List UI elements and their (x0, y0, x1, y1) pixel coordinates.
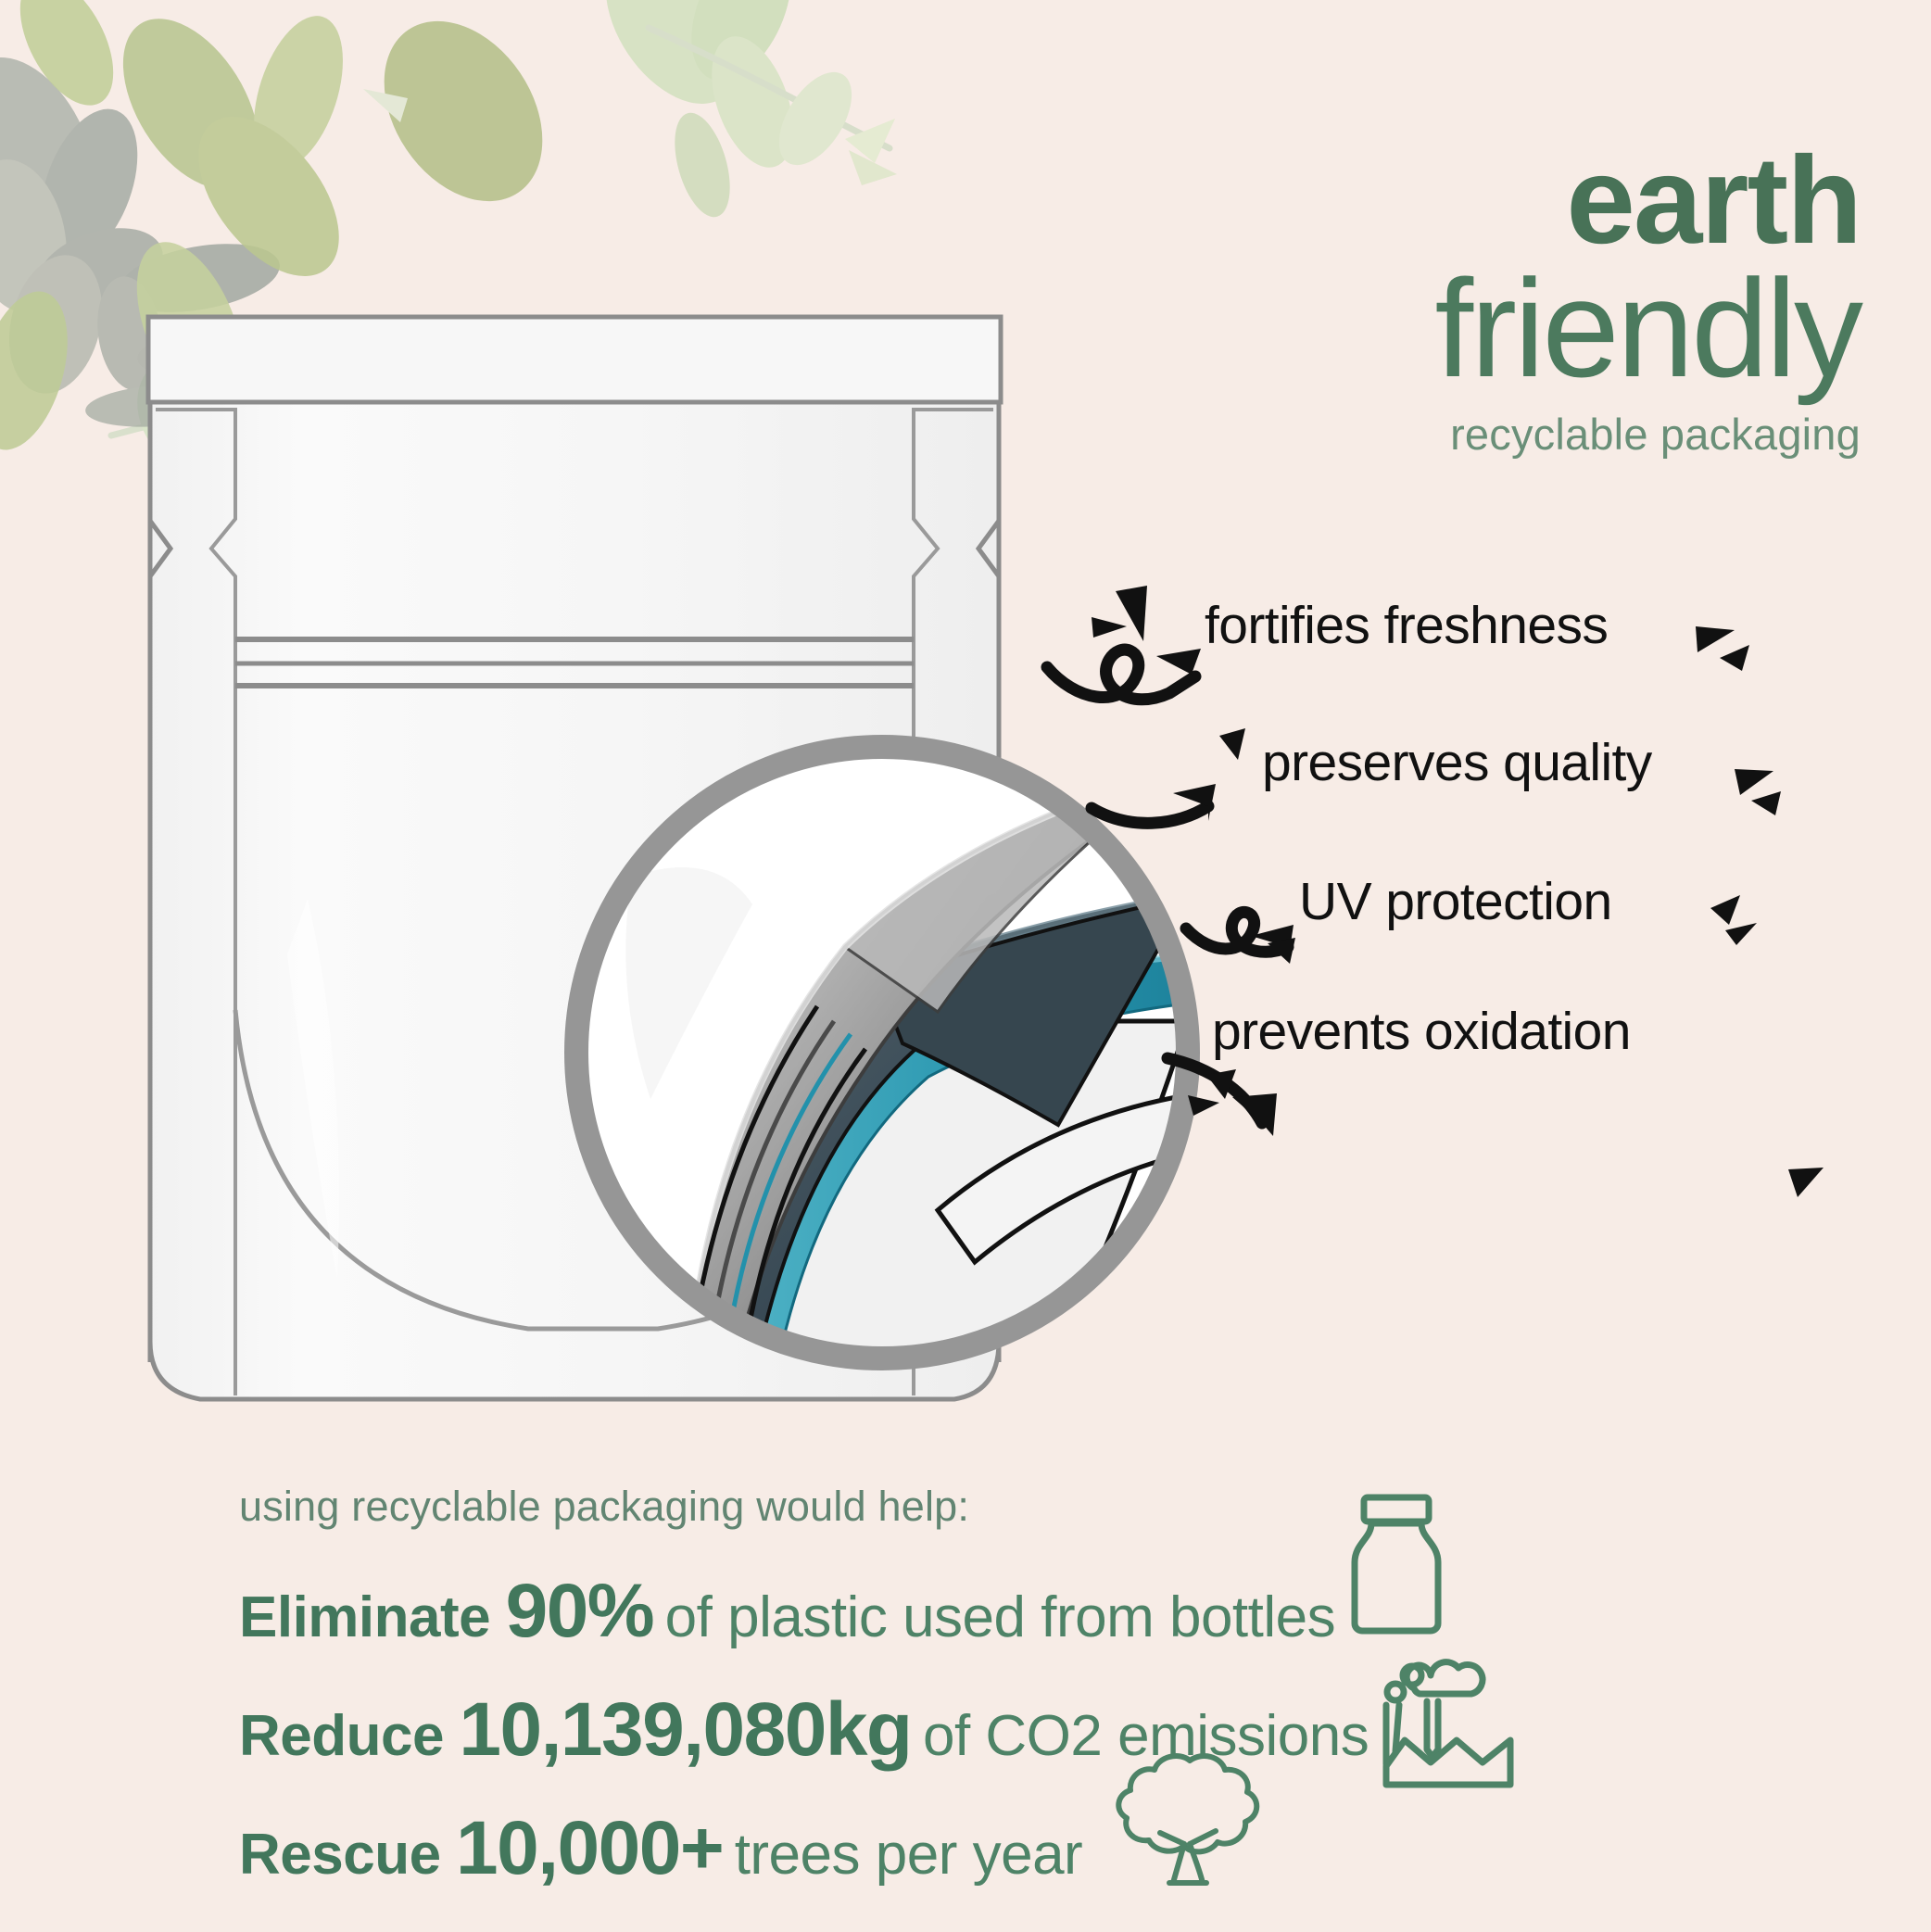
title-line-friendly: friendly (1129, 258, 1861, 399)
callout-label: fortifies freshness (1205, 596, 1608, 655)
stat-verb: Eliminate (239, 1585, 490, 1649)
stat-tail: of plastic used from bottles (665, 1585, 1335, 1649)
stat-verb: Rescue (239, 1823, 441, 1887)
pouch-top-seal (148, 317, 1001, 402)
stat-verb: Reduce (239, 1704, 444, 1768)
title-line-earth: earth (1129, 139, 1861, 263)
stat-row-rescue: Rescue 10,000+ trees per year (239, 1811, 1647, 1887)
leaf-cluster-topright (578, 0, 897, 223)
infographic-canvas: fortifies freshness preserves quality UV… (0, 0, 1931, 1932)
stat-number: 10,000+ (456, 1806, 723, 1890)
stats-section: using recyclable packaging would help: E… (239, 1483, 1647, 1929)
page-title: earth friendly recyclable packaging (1129, 139, 1861, 460)
callout-group: fortifies freshness preserves quality UV… (1047, 575, 1918, 1242)
callout-uv-protection[interactable]: UV protection (1299, 871, 1612, 932)
callout-label: prevents oxidation (1212, 1002, 1631, 1061)
callout-label: preserves quality (1262, 733, 1652, 792)
stat-tail: trees per year (735, 1823, 1083, 1887)
subtitle: recyclable packaging (1129, 409, 1861, 460)
callout-fortifies-freshness[interactable]: fortifies freshness (1205, 595, 1608, 656)
stat-row-eliminate: Eliminate 90% of plastic used from bottl… (239, 1573, 1647, 1649)
callout-preserves-quality[interactable]: preserves quality (1262, 732, 1652, 793)
callout-label: UV protection (1299, 872, 1612, 931)
stat-tail: of CO2 emissions (923, 1704, 1369, 1768)
stat-row-reduce: Reduce 10,139,080kg of CO2 emissions (239, 1692, 1647, 1768)
stat-number: 90% (506, 1569, 654, 1653)
stats-intro-text: using recyclable packaging would help: (239, 1483, 1647, 1531)
stat-number: 10,139,080kg (459, 1687, 911, 1772)
callout-prevents-oxidation[interactable]: prevents oxidation (1212, 1001, 1631, 1062)
